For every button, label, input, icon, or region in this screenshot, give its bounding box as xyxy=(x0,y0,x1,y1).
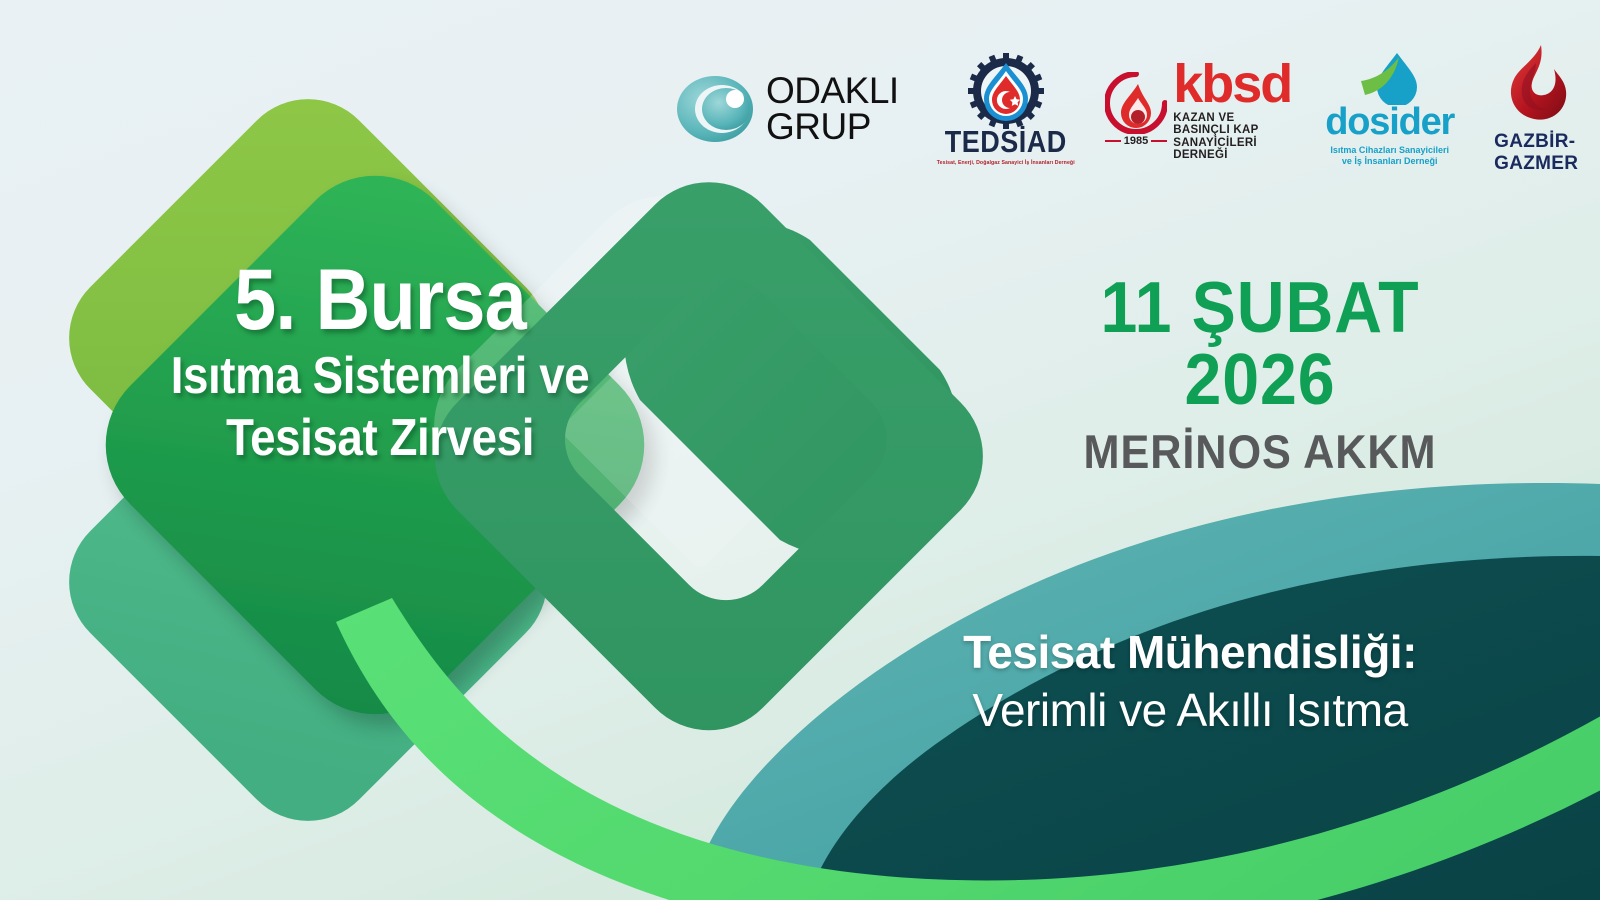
event-theme-line2: Verimli ve Akıllı Isıtma xyxy=(880,686,1500,734)
gear-droplet-crescent-icon xyxy=(962,53,1050,131)
kbsd-year: 1985 xyxy=(1124,135,1148,147)
event-title-line3: Tesisat Zirvesi xyxy=(98,408,661,469)
dosider-wordmark: dosider xyxy=(1325,101,1454,144)
logo-dosider: dosider Isıtma Cihazları Sanayicileri ve… xyxy=(1325,51,1454,168)
logo-odakli-grup: ODAKLI GRUP xyxy=(676,73,899,146)
kbsd-year-row: 1985 xyxy=(1105,135,1167,147)
tedsiad-wordmark: TEDSİAD xyxy=(945,125,1067,160)
dosider-sub-line1: Isıtma Cihazları Sanayicileri xyxy=(1330,145,1449,156)
event-date-venue: 11 ŞUBAT 2026 MERİNOS AKKM xyxy=(1010,272,1510,475)
droplet-leaf-icon xyxy=(1359,51,1421,105)
event-title-line2: Isıtma Sistemleri ve xyxy=(98,346,661,407)
gazbir-wordmark: GAZBİR-GAZMER xyxy=(1494,131,1578,175)
flame-icon xyxy=(1496,43,1576,129)
logo-tedsiad: TEDSİAD Tesisat, Enerji, Doğalgaz Sanayi… xyxy=(937,53,1075,166)
event-title: 5. Bursa Isıtma Sistemleri ve Tesisat Zi… xyxy=(60,258,700,469)
odakli-line1: ODAKLI xyxy=(766,73,899,109)
odakli-line2: GRUP xyxy=(766,109,899,145)
crescent-circle-icon xyxy=(676,74,754,144)
logo-kbsd: 1985 kbsd KAZAN VE BASINÇLI KAP SANAYİCİ… xyxy=(1105,57,1292,161)
sponsor-logo-row: ODAKLI GRUP xyxy=(676,44,1556,174)
flame-circle-icon xyxy=(1105,72,1167,134)
tedsiad-subtitle: Tesisat, Enerji, Doğalgaz Sanayici İş İn… xyxy=(937,160,1075,166)
logo-gazbir-gazmer: GAZBİR-GAZMER xyxy=(1494,43,1578,175)
kbsd-text: kbsd KAZAN VE BASINÇLI KAP SANAYİCİLERİ … xyxy=(1173,57,1291,161)
kbsd-mark-wrap: 1985 xyxy=(1105,72,1167,147)
event-date: 11 ŞUBAT 2026 xyxy=(1030,272,1490,416)
event-banner: ODAKLI GRUP xyxy=(0,0,1600,900)
dosider-sub-line2: ve İş İnsanları Derneği xyxy=(1330,156,1449,167)
event-theme-line1: Tesisat Mühendisliği: xyxy=(880,628,1500,676)
odakli-grup-wordmark: ODAKLI GRUP xyxy=(766,73,899,146)
kbsd-line1: KAZAN VE BASINÇLI KAP xyxy=(1173,113,1291,136)
event-title-line1: 5. Bursa xyxy=(98,258,661,342)
kbsd-wordmark: kbsd xyxy=(1173,57,1291,111)
event-venue: MERİNOS AKKM xyxy=(1030,428,1490,475)
dosider-subtitle: Isıtma Cihazları Sanayicileri ve İş İnsa… xyxy=(1330,145,1449,168)
kbsd-line2: SANAYİCİLERİ DERNEĞİ xyxy=(1173,138,1291,161)
event-theme: Tesisat Mühendisliği: Verimli ve Akıllı … xyxy=(880,628,1500,735)
